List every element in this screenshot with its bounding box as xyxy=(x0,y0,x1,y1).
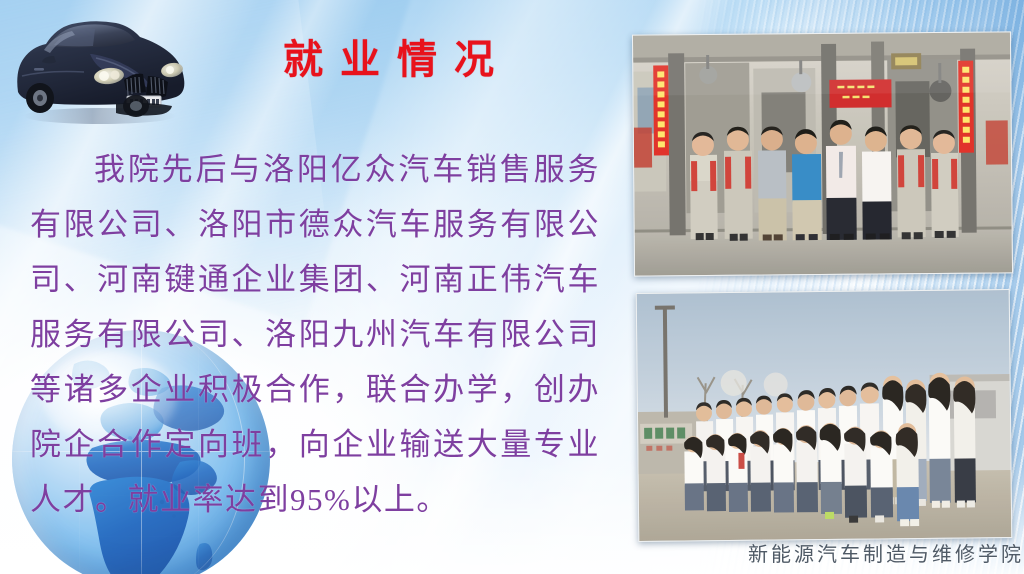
page-title: 就业情况 xyxy=(283,34,583,86)
slide-caption: 新能源汽车制造与维修学院 xyxy=(748,538,1024,567)
bmw-sedan-photo xyxy=(4,0,192,128)
students-group-photo xyxy=(636,289,1013,542)
slide-canvas: 就业情况 我院先后与洛阳亿众汽车销售服务有限公司、洛阳市德众汽车服务有限公司、河… xyxy=(0,0,1024,574)
body-paragraph: 我院先后与洛阳亿众汽车销售服务有限公司、洛阳市德众汽车服务有限公司、河南键通企业… xyxy=(30,142,600,527)
workshop-group-photo xyxy=(632,31,1013,276)
